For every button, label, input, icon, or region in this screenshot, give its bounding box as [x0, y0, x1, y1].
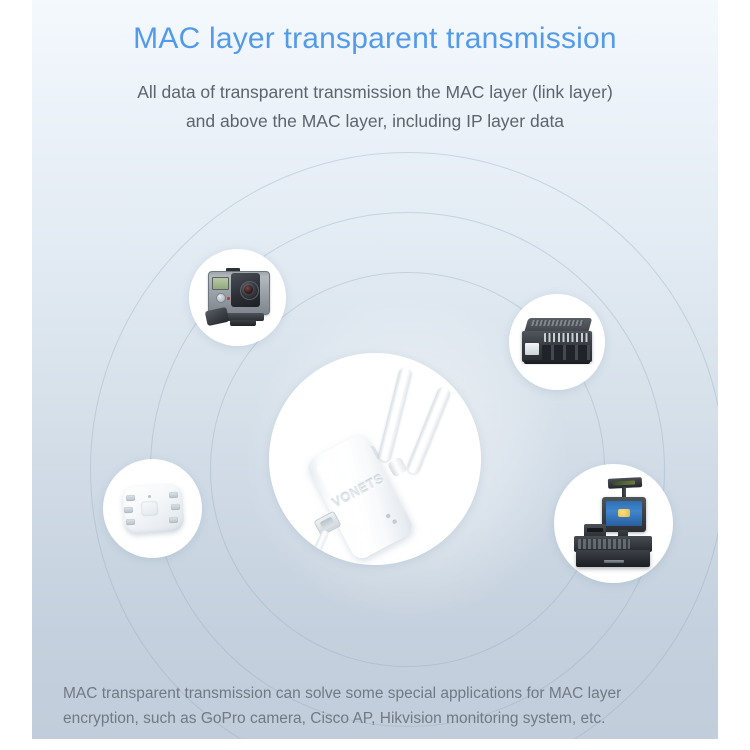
plc-base: [524, 360, 590, 364]
hub-device-bubble[interactable]: VONETS: [269, 353, 481, 565]
gopro-lcd-screen: [212, 277, 229, 290]
plc-body: [522, 331, 592, 362]
pos-cash-drawer: [576, 550, 650, 567]
ap-antenna-connector-6: [169, 517, 178, 524]
page-subtitle-line-1: All data of transparent transmission the…: [137, 82, 613, 102]
gopro-camera-icon: [204, 269, 272, 327]
pos-customer-display-screen: [613, 480, 635, 485]
pos-terminal-icon: [568, 478, 660, 570]
antenna-base-right: [387, 456, 408, 477]
page-title: MAC layer transparent transmission: [0, 22, 750, 56]
node-bubble-gopro[interactable]: [189, 249, 286, 346]
plc-top-vents: [531, 320, 585, 326]
ap-center-panel: [140, 500, 158, 516]
vonets-wifi-repeater-icon: VONETS: [269, 353, 481, 565]
footer-note-line-1: MAC transparent transmission can solve s…: [63, 685, 621, 702]
pos-cash-drawer-handle: [604, 560, 624, 563]
antenna-right: [405, 385, 452, 475]
ap-status-led: [148, 495, 151, 498]
status-led-2: [392, 519, 397, 524]
plc-module-icon: [520, 318, 596, 368]
page-subtitle-line-2: and above the MAC layer, including IP la…: [75, 107, 675, 136]
gopro-record-indicator: [227, 297, 230, 300]
ap-antenna-connector-4: [169, 492, 178, 499]
ap-antenna-connector-5: [171, 504, 180, 511]
footer-note-line-2: encryption, such as GoPro camera, Cisco …: [63, 706, 688, 731]
node-bubble-pos[interactable]: [554, 464, 673, 583]
pos-printer-slot: [587, 528, 603, 532]
product-feature-slide: VONETS: [0, 0, 750, 750]
pos-keyboard: [578, 539, 630, 549]
antenna-left: [377, 366, 413, 462]
pos-monitor-screen: [606, 501, 642, 526]
gopro-lens-inner: [244, 285, 253, 294]
page-subtitle: All data of transparent transmission the…: [75, 78, 675, 136]
ap-antenna-connector-2: [124, 507, 133, 514]
gopro-mount-foot: [230, 320, 256, 326]
node-bubble-plc[interactable]: [509, 294, 605, 390]
pos-screen-logo: [618, 509, 630, 517]
pos-monitor: [602, 497, 646, 532]
ethernet-port-inner: [320, 516, 336, 530]
gopro-shutter-button: [216, 293, 226, 303]
gopro-mount-bracket: [205, 307, 230, 326]
footer-note: MAC transparent transmission can solve s…: [63, 681, 688, 731]
ap-antenna-connector-1: [126, 495, 135, 502]
plc-label-plate: [525, 343, 539, 355]
cisco-access-point-icon: [119, 481, 187, 537]
plc-io-slots: [542, 345, 590, 360]
status-led-1: [386, 513, 391, 518]
node-bubble-cisco-ap[interactable]: [103, 459, 202, 558]
plc-terminal-block: [544, 333, 590, 342]
ap-antenna-connector-3: [126, 519, 135, 526]
